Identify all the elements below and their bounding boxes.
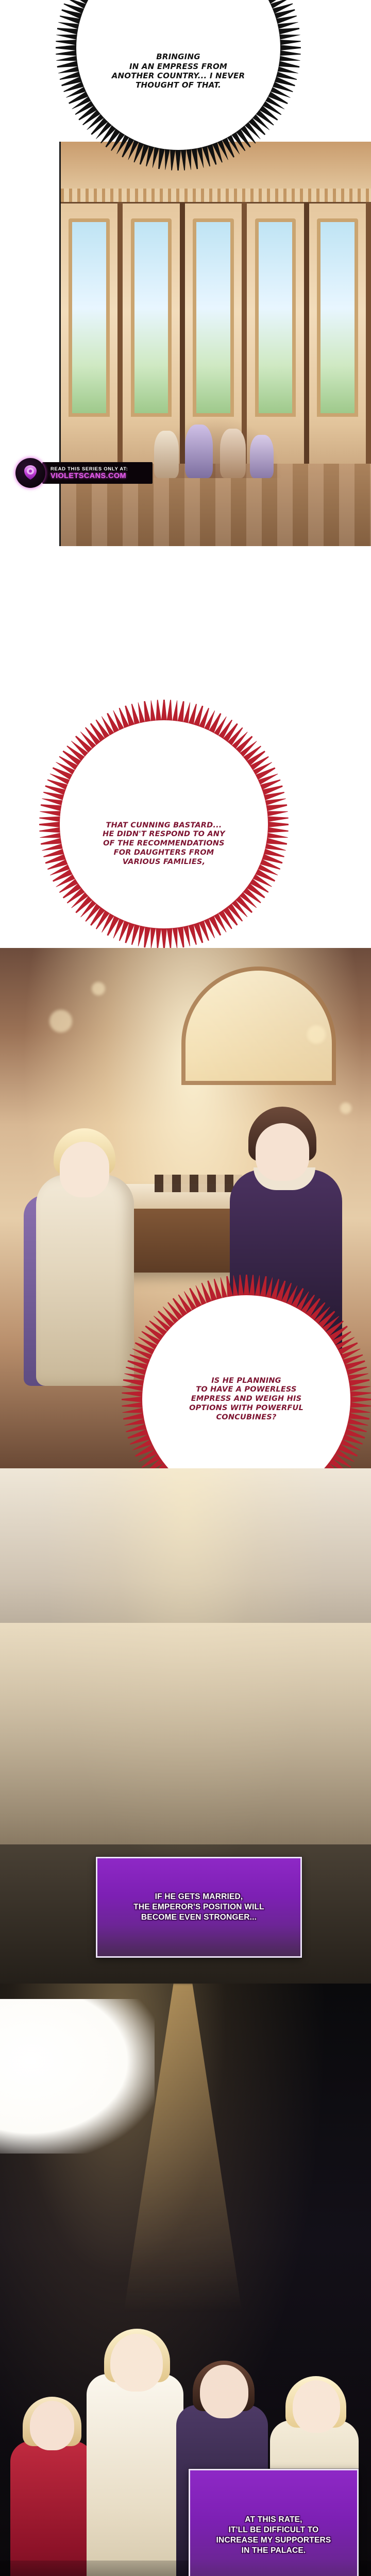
bubble-core: THAT CUNNING BASTARD... HE DIDN'T RESPON…	[60, 720, 268, 928]
bubble-text: BRINGING IN AN EMPRESS FROM ANOTHER COUN…	[112, 6, 245, 90]
watermark-line-2: VIOLETSCANS.COM	[50, 472, 153, 480]
bubble-text: THAT CUNNING BASTARD... HE DIDN'T RESPON…	[103, 782, 225, 867]
caption-text: AT THIS RATE, IT'LL BE DIFFICULT TO INCR…	[216, 2515, 331, 2555]
caption-box-1: IF HE GETS MARRIED, THE EMPEROR'S POSITI…	[96, 1857, 302, 1958]
watermark-text-bar: READ THIS SERIES ONLY AT: VIOLETSCANS.CO…	[42, 462, 153, 484]
caption-text: IF HE GETS MARRIED, THE EMPEROR'S POSITI…	[133, 1892, 264, 1922]
bubble-text: IS HE PLANNING TO HAVE A POWERLESS EMPRE…	[189, 1377, 303, 1422]
starburst-bubble-1: BRINGING IN AN EMPRESS FROM ANOTHER COUN…	[76, 0, 280, 150]
panel-1: BRINGING IN AN EMPRESS FROM ANOTHER COUN…	[0, 0, 371, 546]
distant-figures	[149, 416, 283, 478]
starburst-bubble-3: IS HE PLANNING TO HAVE A POWERLESS EMPRE…	[142, 1295, 350, 1468]
figure-left-noble	[31, 1118, 142, 1386]
panel-2: IS HE PLANNING TO HAVE A POWERLESS EMPRE…	[0, 948, 371, 1468]
rose-icon	[15, 458, 45, 488]
light-wash	[0, 1999, 155, 2154]
bubble-core: BRINGING IN AN EMPRESS FROM ANOTHER COUN…	[76, 0, 280, 150]
watermark-line-1: READ THIS SERIES ONLY AT:	[50, 466, 153, 472]
ceiling-beams	[61, 142, 371, 204]
starburst-bubble-2: THAT CUNNING BASTARD... HE DIDN'T RESPON…	[60, 720, 268, 928]
bubble-core: IS HE PLANNING TO HAVE A POWERLESS EMPRE…	[142, 1295, 350, 1468]
watermark-badge: READ THIS SERIES ONLY AT: VIOLETSCANS.CO…	[15, 457, 153, 488]
comic-page: BRINGING IN AN EMPRESS FROM ANOTHER COUN…	[0, 0, 371, 2576]
caption-box-2: AT THIS RATE, IT'LL BE DIFFICULT TO INCR…	[189, 2469, 359, 2576]
